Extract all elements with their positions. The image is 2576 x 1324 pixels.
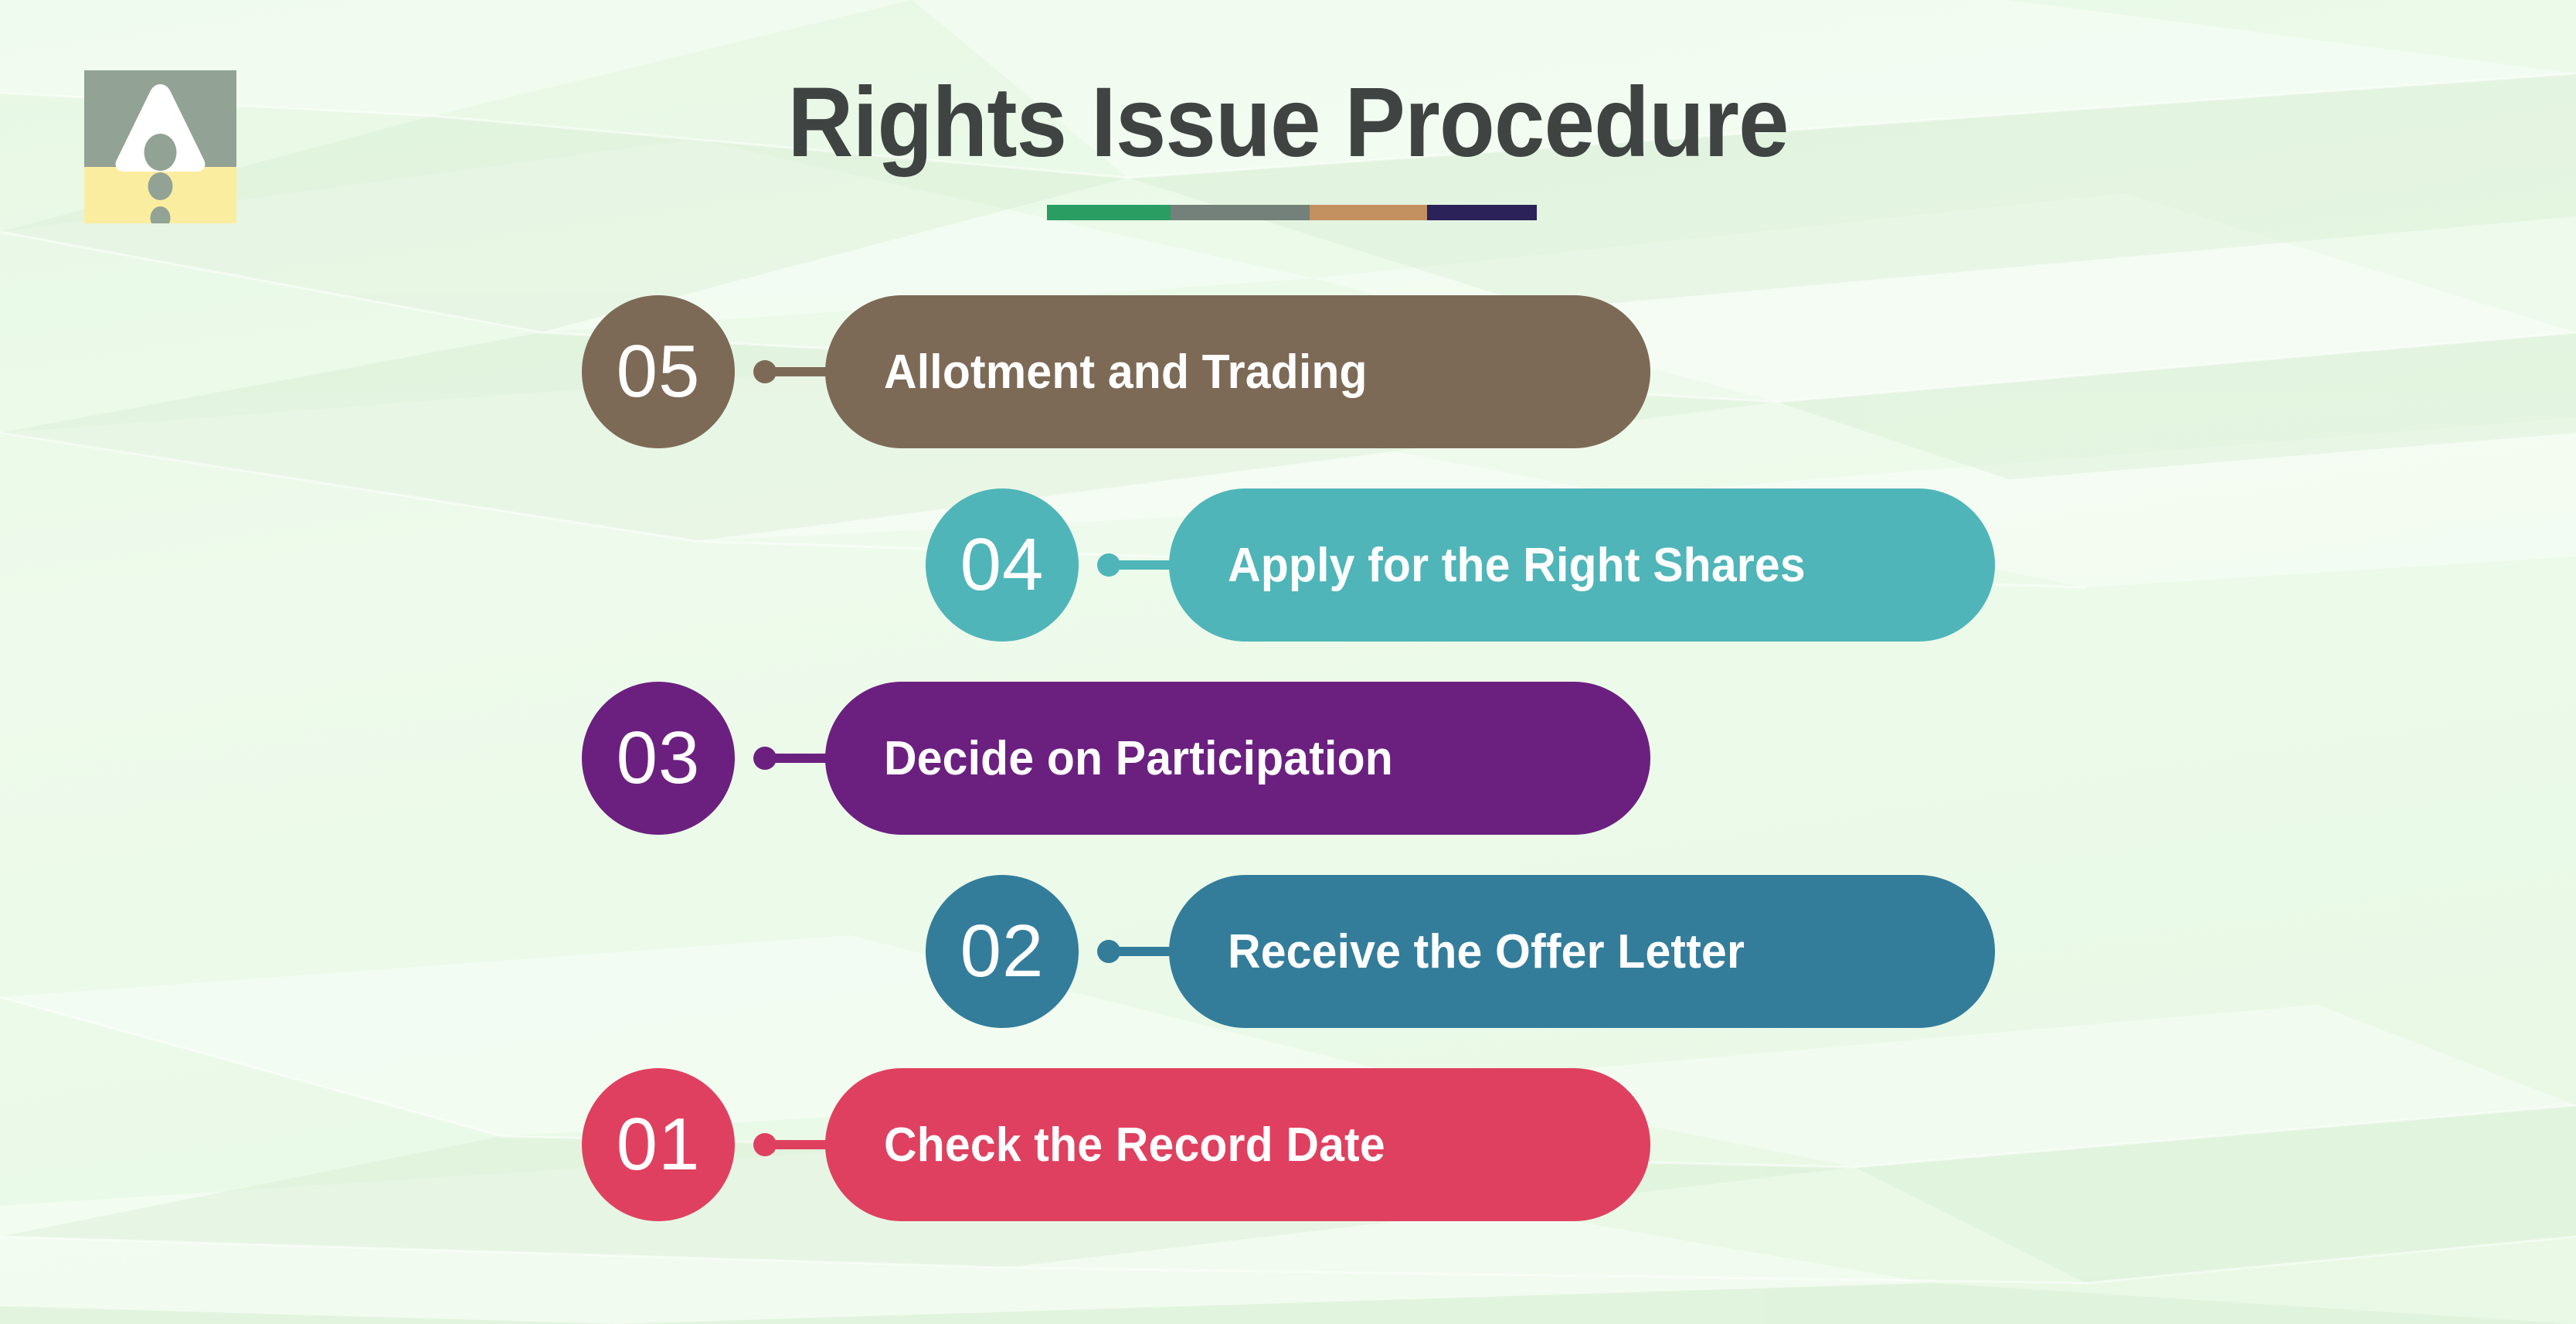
step-label-pill-04[interactable]: Apply for the Right Shares: [1169, 488, 1995, 642]
step-connector-dot: [753, 747, 777, 770]
title-rule-segment-2: [1171, 205, 1310, 220]
title-rule-segment-3: [1310, 205, 1427, 220]
title-rule-segment-4: [1427, 205, 1537, 220]
step-number-badge-04[interactable]: 04: [926, 488, 1079, 642]
step-label-pill-03[interactable]: Decide on Participation: [825, 682, 1650, 835]
step-label-text: Allotment and Trading: [884, 345, 1368, 400]
step-connector-line: [775, 754, 828, 763]
step-label-pill-01[interactable]: Check the Record Date: [825, 1068, 1650, 1221]
step-connector-line: [1119, 560, 1171, 570]
page-title: Rights Issue Procedure: [103, 73, 2472, 172]
step-connector-dot: [1097, 940, 1120, 963]
step-label-text: Apply for the Right Shares: [1228, 538, 1806, 593]
step-number-badge-03[interactable]: 03: [582, 682, 735, 835]
step-label-pill-05[interactable]: Allotment and Trading: [825, 295, 1650, 448]
step-connector-line: [775, 1140, 828, 1149]
step-number-badge-02[interactable]: 02: [926, 875, 1079, 1028]
step-number-badge-01[interactable]: 01: [582, 1068, 735, 1221]
step-number-badge-05[interactable]: 05: [582, 295, 735, 448]
step-label-pill-02[interactable]: Receive the Offer Letter: [1169, 875, 1995, 1028]
step-connector-line: [775, 367, 828, 376]
step-label-text: Check the Record Date: [884, 1118, 1385, 1173]
step-connector-dot: [753, 360, 777, 383]
step-connector-dot: [1097, 553, 1120, 577]
step-connector-line: [1119, 947, 1171, 956]
infographic-slide: Rights Issue Procedure 05Allotment and T…: [0, 0, 2576, 1324]
title-rule-segment-1: [1047, 205, 1171, 220]
step-label-text: Receive the Offer Letter: [1228, 924, 1745, 979]
step-connector-dot: [753, 1133, 777, 1156]
step-label-text: Decide on Participation: [884, 731, 1393, 786]
title-underline-rule: [1047, 205, 1537, 220]
